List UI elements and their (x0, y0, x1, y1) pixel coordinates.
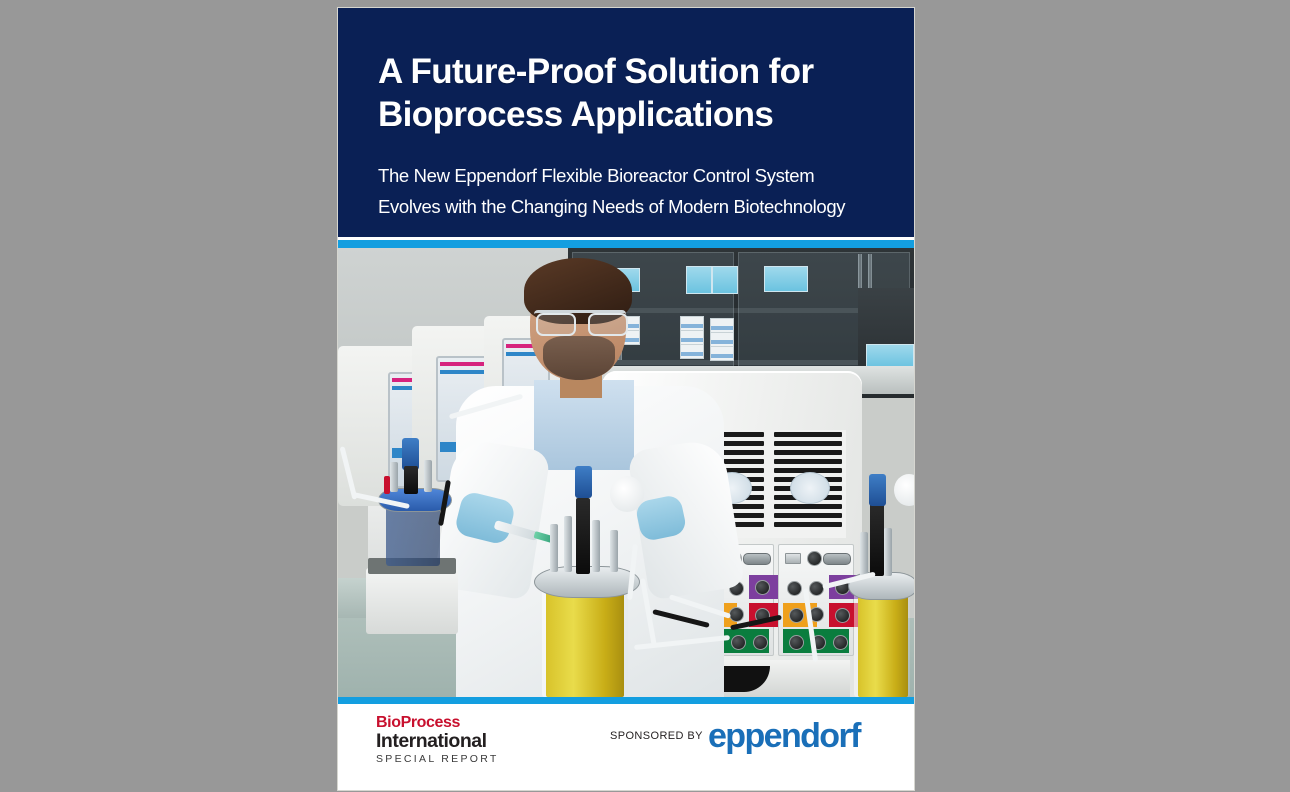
page-subtitle: The New Eppendorf Flexible Bioreactor Co… (378, 160, 898, 222)
bottle-stack (680, 344, 704, 359)
ph-probe-cap (575, 466, 592, 498)
probe-red-marker (384, 476, 390, 494)
probe (390, 462, 398, 492)
probe (884, 528, 892, 576)
fan-vent-disc (790, 472, 830, 504)
probe-body (404, 466, 418, 494)
cover-footer: BioProcess International SPECIAL REPORT … (338, 704, 914, 790)
bottle-stack (710, 332, 734, 347)
ph-probe-cap (869, 474, 886, 506)
stirrer-base-unit (366, 568, 458, 634)
exhaust-condenser (610, 476, 644, 512)
scientist-beard (543, 336, 615, 380)
probe (860, 532, 868, 576)
reagent-box (764, 266, 808, 292)
rack-label-box (866, 344, 914, 368)
reagent-box (712, 266, 738, 294)
probe (610, 530, 618, 572)
logo-bioprocess: BioProcess (376, 714, 551, 731)
probe-body (870, 504, 884, 576)
bottle-stack (710, 318, 734, 333)
accent-bar-top (338, 240, 914, 248)
culture-medium (546, 592, 624, 697)
logo-international: International (376, 731, 551, 752)
subtitle-line-1: The New Eppendorf Flexible Bioreactor Co… (378, 160, 898, 191)
safety-glasses-icon (534, 310, 626, 333)
exhaust-condenser (894, 474, 914, 506)
subtitle-line-2: Evolves with the Changing Needs of Moder… (378, 191, 898, 222)
accent-bar-bottom (338, 697, 914, 704)
bottle-stack (680, 330, 704, 345)
report-cover-page: A Future-Proof Solution for Bioprocess A… (338, 8, 914, 790)
connector-panel (778, 544, 854, 656)
probe-body (576, 498, 590, 574)
probe (550, 524, 558, 572)
probe (424, 460, 432, 492)
eppendorf-logo: eppendorf (708, 717, 860, 756)
probe (564, 516, 572, 572)
bottle-stack (680, 316, 704, 331)
cover-photo (338, 248, 914, 697)
bottle-stack (710, 346, 734, 361)
bioprocess-international-logo: BioProcess International SPECIAL REPORT (376, 714, 551, 766)
culture-medium (858, 596, 908, 697)
cover-header: A Future-Proof Solution for Bioprocess A… (338, 8, 914, 237)
reagent-box (686, 266, 712, 294)
logo-special-report: SPECIAL REPORT (376, 752, 551, 766)
page-title: A Future-Proof Solution for Bioprocess A… (378, 50, 888, 136)
sponsored-by-label: SPONSORED BY (610, 730, 703, 742)
probe (592, 520, 600, 572)
